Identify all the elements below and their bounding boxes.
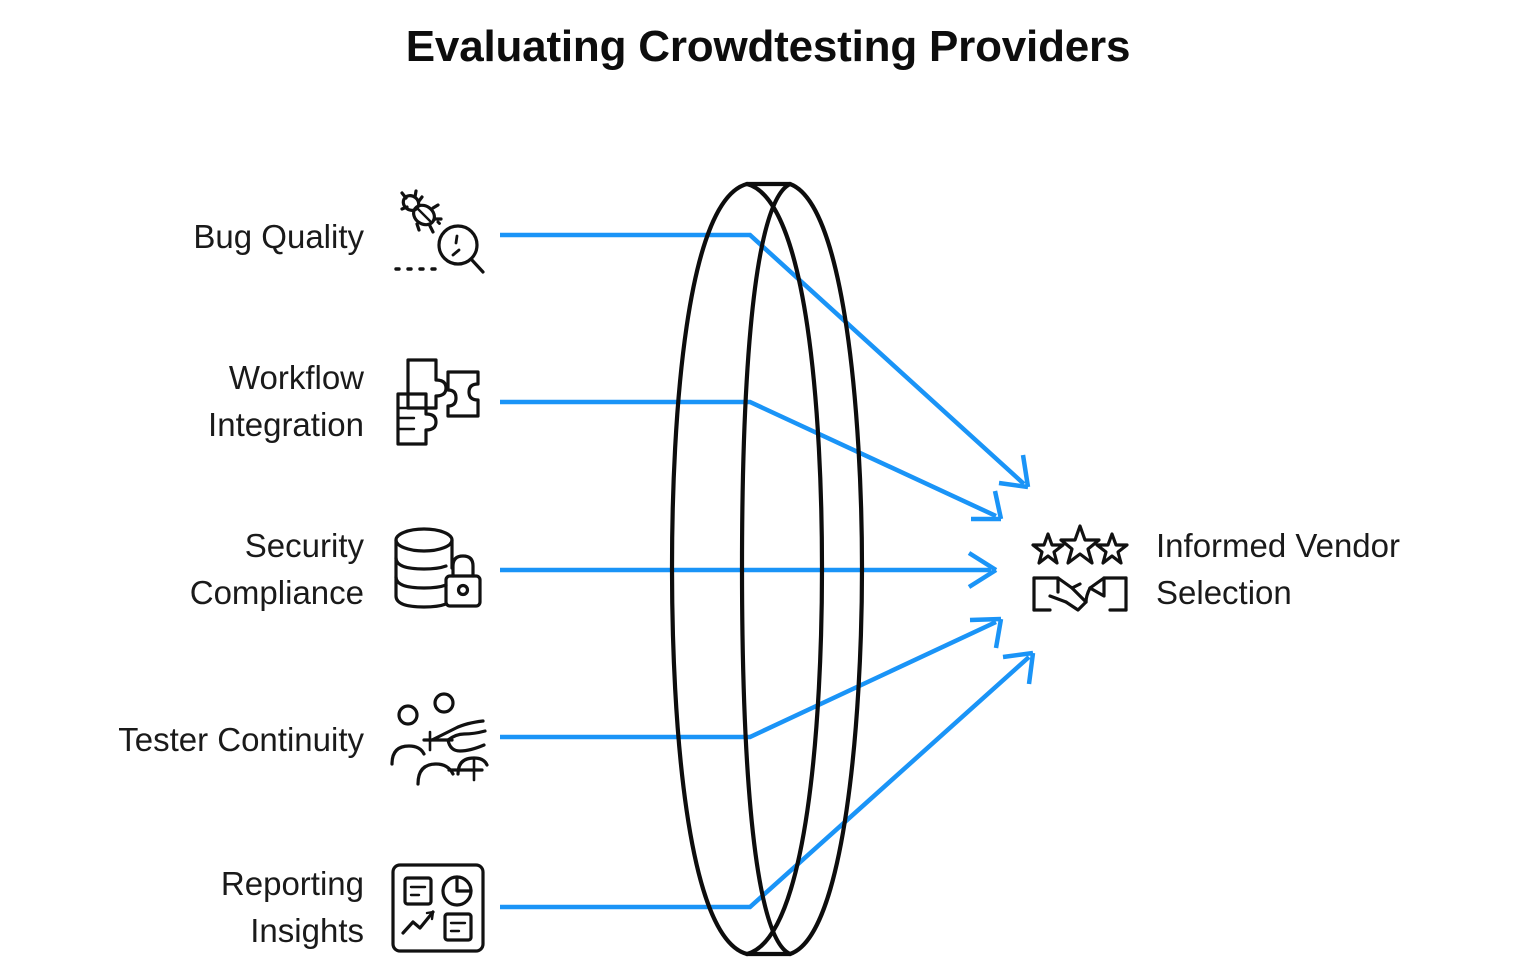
connector-bug-quality (500, 235, 1028, 487)
output-node-informed-vendor-selection[interactable]: Informed Vendor Selection (1028, 518, 1528, 622)
connector-tester-continuity (500, 619, 1001, 737)
puzzle-pieces-icon (386, 350, 490, 454)
output-label-informed-vendor-selection: Informed Vendor Selection (1132, 523, 1400, 617)
input-label-workflow-integration: Workflow Integration (208, 355, 386, 449)
stars-handshake-icon (1028, 518, 1132, 622)
input-label-security-compliance: Security Compliance (190, 523, 386, 617)
input-label-tester-continuity: Tester Continuity (118, 717, 386, 764)
team-people-icon (386, 688, 490, 792)
input-label-bug-quality: Bug Quality (193, 214, 386, 261)
input-node-bug-quality[interactable]: Bug Quality (60, 185, 490, 289)
dashboard-charts-icon (386, 856, 490, 960)
connector-workflow-integration (500, 402, 1001, 519)
connector-reporting-insights (500, 653, 1033, 907)
input-node-reporting-insights[interactable]: Reporting Insights (60, 856, 490, 960)
bug-magnifier-icon (386, 185, 490, 289)
connector-layer (0, 0, 1536, 977)
connector-security-compliance (500, 553, 996, 587)
database-lock-icon (386, 518, 490, 622)
input-node-workflow-integration[interactable]: Workflow Integration (60, 350, 490, 454)
input-node-tester-continuity[interactable]: Tester Continuity (10, 688, 490, 792)
input-label-reporting-insights: Reporting Insights (221, 861, 386, 955)
input-node-security-compliance[interactable]: Security Compliance (60, 518, 490, 622)
diagram-canvas: Evaluating Crowdtesting Providers (0, 0, 1536, 977)
